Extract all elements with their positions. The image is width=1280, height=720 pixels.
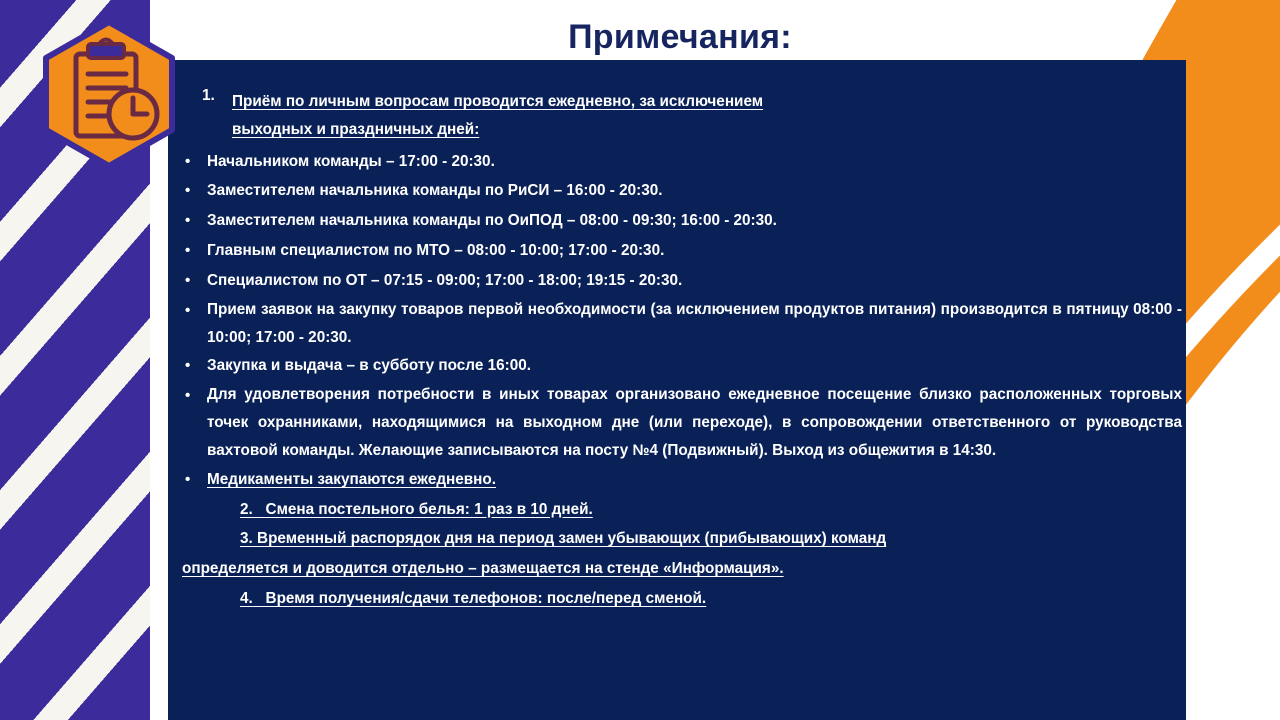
- bullet-marker: •: [182, 266, 207, 295]
- note-item-2-text: Смена постельного белья: 1 раз в 10 дней…: [266, 501, 593, 518]
- note-item-4-text: Время получения/сдачи телефонов: после/п…: [266, 590, 707, 607]
- bullet-marker: •: [182, 296, 207, 325]
- note-item-3-line2: определяется и доводится отдельно – разм…: [182, 554, 1182, 584]
- bullet-text: Закупка и выдача – в субботу после 16:00…: [207, 351, 1182, 381]
- note-item-1-line2: выходных и праздничных дней:: [232, 116, 1182, 144]
- list-item: • Главным специалистом по МТО – 08:00 - …: [182, 236, 1182, 266]
- bullet-text: Для удовлетворения потребности в иных то…: [207, 381, 1182, 464]
- bullet-text: Прием заявок на закупку товаров первой н…: [207, 296, 1182, 352]
- clipboard-clock-icon: [38, 18, 180, 170]
- note-item-1-number: 1.: [202, 88, 232, 103]
- note-item-3-number: 3.: [240, 530, 253, 547]
- bullet-text: Начальником команды – 17:00 - 20:30.: [207, 147, 1182, 177]
- list-item: • Медикаменты закупаются ежедневно.: [182, 465, 1182, 495]
- slide-canvas: Примечания: 1. Приём по личным вопро: [0, 0, 1280, 720]
- list-item: • Начальником команды – 17:00 - 20:30.: [182, 147, 1182, 177]
- note-item-4-number: 4.: [240, 590, 253, 607]
- bullet-text: Заместителем начальника команды по ОиПОД…: [207, 206, 1182, 236]
- bullet-text: Главным специалистом по МТО – 08:00 - 10…: [207, 236, 1182, 266]
- bullet-marker: •: [182, 351, 207, 380]
- bullet-marker: •: [182, 147, 207, 176]
- bullet-marker: •: [182, 236, 207, 265]
- list-item: • Специалистом по ОТ – 07:15 - 09:00; 17…: [182, 266, 1182, 296]
- note-item-1-line1: Приём по личным вопросам проводится ежед…: [232, 88, 1182, 116]
- note-item-2: 2. Смена постельного белья: 1 раз в 10 д…: [182, 495, 1182, 525]
- notes-content: 1. Приём по личным вопросам проводится е…: [182, 88, 1182, 708]
- note-item-1-body: Приём по личным вопросам проводится ежед…: [232, 88, 1182, 145]
- note-item-1: 1. Приём по личным вопросам проводится е…: [182, 88, 1182, 145]
- bullet-text: Заместителем начальника команды по РиСИ …: [207, 176, 1182, 206]
- note-item-3-line1: 3. Временный распорядок дня на период за…: [182, 524, 1182, 554]
- bullet-text: Медикаменты закупаются ежедневно.: [207, 465, 1182, 495]
- bullet-marker: •: [182, 206, 207, 235]
- note-item-2-number: 2.: [240, 501, 253, 518]
- list-item: • Для удовлетворения потребности в иных …: [182, 381, 1182, 464]
- page-title: Примечания:: [300, 18, 1060, 57]
- list-item: • Заместителем начальника команды по ОиП…: [182, 206, 1182, 236]
- bullet-marker: •: [182, 176, 207, 205]
- note-item-3-text-line1: Временный распорядок дня на период замен…: [257, 530, 886, 547]
- bullet-marker: •: [182, 465, 207, 494]
- list-item: • Заместителем начальника команды по РиС…: [182, 176, 1182, 206]
- bullet-marker: •: [182, 381, 207, 410]
- list-item: • Прием заявок на закупку товаров первой…: [182, 296, 1182, 352]
- list-item: • Закупка и выдача – в субботу после 16:…: [182, 351, 1182, 381]
- bullet-text: Специалистом по ОТ – 07:15 - 09:00; 17:0…: [207, 266, 1182, 296]
- note-item-4: 4. Время получения/сдачи телефонов: посл…: [182, 584, 1182, 614]
